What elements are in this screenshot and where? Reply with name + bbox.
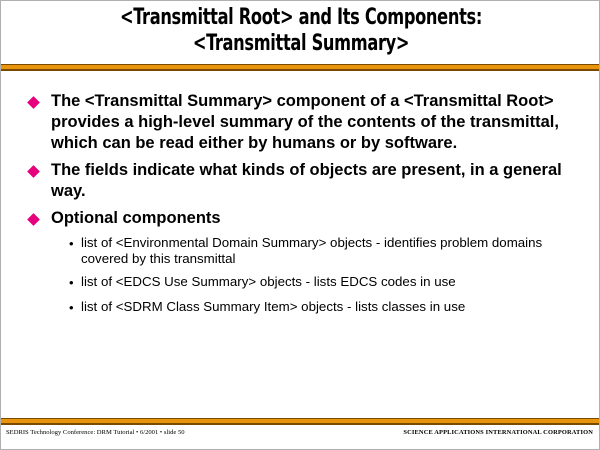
divider-bottom-edge — [1, 423, 600, 425]
bullet-text: The fields indicate what kinds of object… — [51, 160, 587, 202]
sub-bullet-text: list of <Environmental Domain Summary> o… — [81, 235, 587, 267]
footer-right-text: SCIENCE APPLICATIONS INTERNATIONAL CORPO… — [403, 428, 593, 437]
divider-bottom-edge — [1, 69, 600, 71]
title-divider-bar — [1, 64, 600, 71]
dot-bullet-icon: • — [69, 274, 81, 292]
bullet-item: The <Transmittal Summary> component of a… — [1, 91, 600, 154]
footer-divider-bar — [1, 418, 600, 425]
sub-bullet-item: • list of <EDCS Use Summary> objects - l… — [69, 274, 587, 292]
bullet-text: The <Transmittal Summary> component of a… — [51, 91, 587, 154]
slide-body: The <Transmittal Summary> component of a… — [1, 91, 600, 324]
diamond-bullet-icon — [29, 160, 51, 178]
bullet-item: The fields indicate what kinds of object… — [1, 160, 600, 202]
sub-bullet-item: • list of <Environmental Domain Summary>… — [69, 235, 587, 267]
bullet-item: Optional components — [1, 208, 600, 229]
slide-title-line-2: <Transmittal Summary> — [55, 31, 547, 57]
sub-bullet-text: list of <SDRM Class Summary Item> object… — [81, 299, 587, 315]
dot-bullet-icon: • — [69, 235, 81, 253]
footer-left-text: SEDRIS Technology Conference: DRM Tutori… — [6, 428, 185, 437]
dot-bullet-icon: • — [69, 299, 81, 317]
sub-bullet-list: • list of <Environmental Domain Summary>… — [1, 235, 600, 317]
bullet-text: Optional components — [51, 208, 587, 229]
diamond-bullet-icon — [29, 208, 51, 226]
slide-title: <Transmittal Root> and Its Components: <… — [1, 5, 600, 57]
slide-title-line-1: <Transmittal Root> and Its Components: — [55, 5, 547, 31]
sub-bullet-text: list of <EDCS Use Summary> objects - lis… — [81, 274, 587, 290]
sub-bullet-item: • list of <SDRM Class Summary Item> obje… — [69, 299, 587, 317]
presentation-slide: <Transmittal Root> and Its Components: <… — [0, 0, 600, 450]
diamond-bullet-icon — [29, 91, 51, 109]
